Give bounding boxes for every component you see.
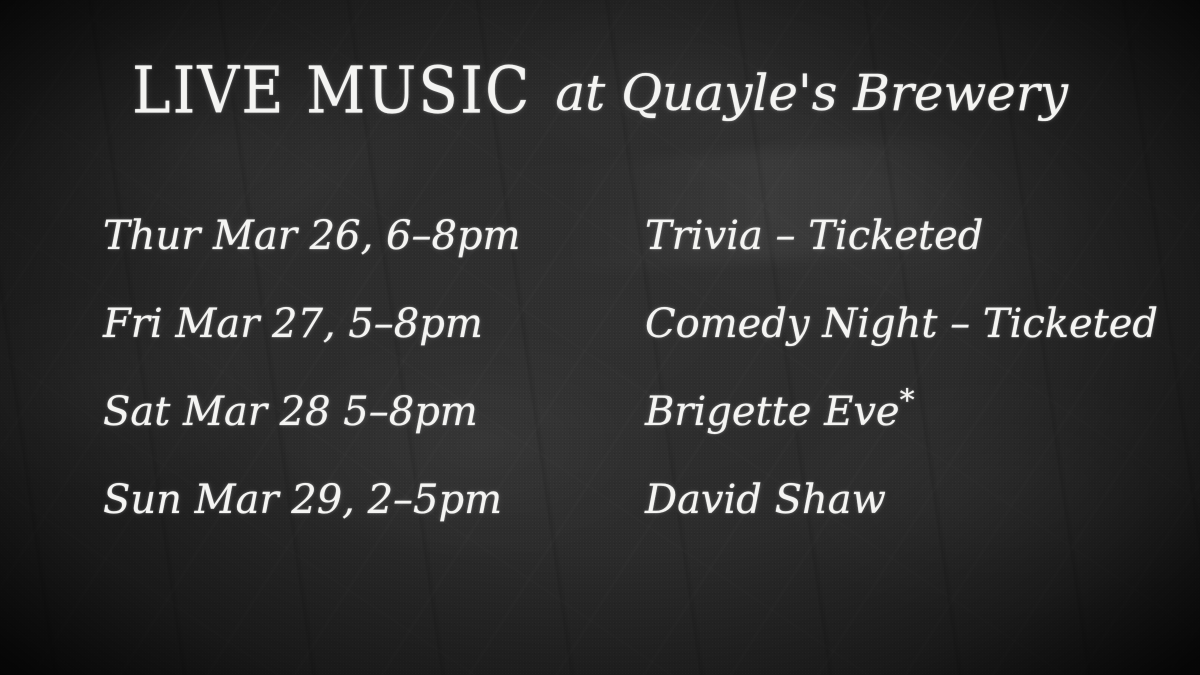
chalkboard-sign: LIVE MUSICat Quayle's Brewery Thur Mar 2… — [0, 0, 1200, 675]
schedule-event: Brigette Eve* — [645, 392, 1143, 432]
schedule-event: Trivia – Ticketed — [645, 216, 1143, 256]
schedule-list: Thur Mar 26, 6–8pm Trivia – Ticketed Fri… — [103, 216, 1143, 568]
schedule-event-label: Comedy Night – Ticketed — [645, 301, 1158, 347]
schedule-event-label: Trivia – Ticketed — [645, 213, 983, 259]
schedule-event-label: David Shaw — [645, 477, 886, 523]
schedule-row: Sat Mar 28 5–8pm Brigette Eve* — [103, 392, 1143, 480]
headline-venue-subtitle: at Quayle's Brewery — [555, 64, 1068, 122]
schedule-date: Sun Mar 29, 2–5pm — [103, 480, 645, 520]
schedule-date: Sat Mar 28 5–8pm — [103, 392, 645, 432]
schedule-date: Fri Mar 27, 5–8pm — [103, 304, 645, 344]
headline-main-title: LIVE MUSIC — [132, 52, 531, 128]
schedule-event: David Shaw — [645, 480, 1143, 520]
schedule-event-label: Brigette Eve — [645, 389, 900, 435]
schedule-row: Fri Mar 27, 5–8pm Comedy Night – Tickete… — [103, 304, 1143, 392]
headline: LIVE MUSICat Quayle's Brewery — [0, 56, 1200, 124]
board-content: LIVE MUSICat Quayle's Brewery Thur Mar 2… — [0, 0, 1200, 675]
schedule-row: Thur Mar 26, 6–8pm Trivia – Ticketed — [103, 216, 1143, 304]
schedule-event-note: * — [900, 384, 915, 419]
schedule-row: Sun Mar 29, 2–5pm David Shaw — [103, 480, 1143, 568]
schedule-event: Comedy Night – Ticketed — [645, 304, 1158, 344]
schedule-date: Thur Mar 26, 6–8pm — [103, 216, 645, 256]
